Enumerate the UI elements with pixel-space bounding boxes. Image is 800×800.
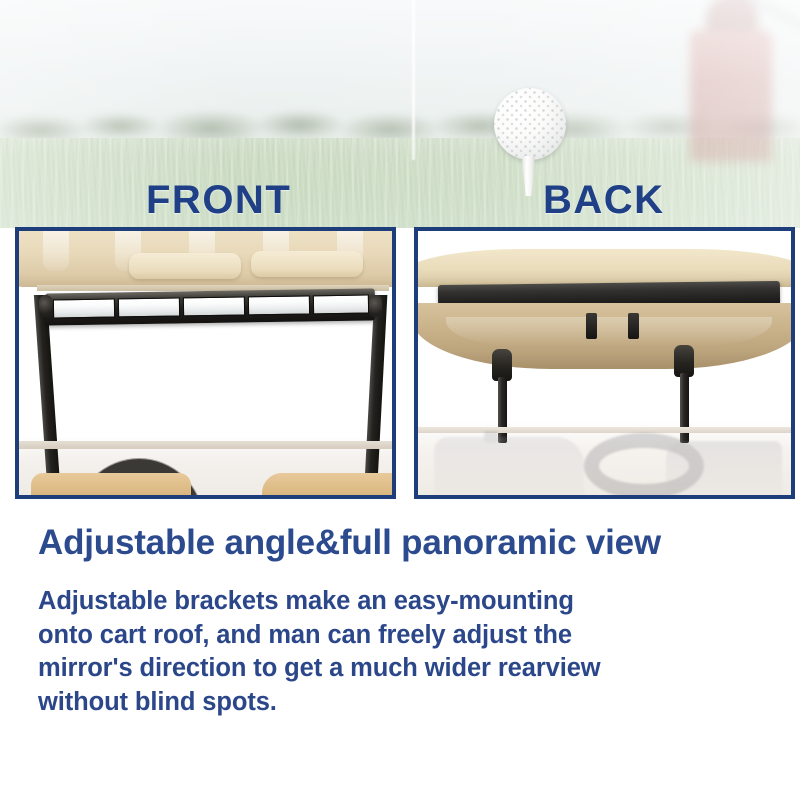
panel-label-front: FRONT [146,180,291,220]
mirror-segment [183,296,245,316]
product-banner: FRONT BACK [0,0,800,800]
mirror-segment [53,298,115,318]
reflection-windshield [434,437,584,495]
reflection-steering-wheel [584,433,704,495]
bracket-tab [628,313,639,339]
roof-underside [418,303,791,369]
front-photo-inner [19,231,392,495]
cart-seat-right [262,473,392,495]
panoramic-mirror-housing [45,288,375,325]
body-copy: Adjustable brackets make an easy-mountin… [38,585,678,720]
body-line: Adjustable brackets make an easy-mountin… [38,585,678,619]
cart-reflection [434,431,782,495]
body-line: onto cart roof, and man can freely adjus… [38,619,678,653]
body-line: mirror's direction to get a much wider r… [38,652,678,686]
mirror-segment [313,295,369,315]
mirror-segment [118,297,180,317]
back-photo-inner [418,231,791,495]
golf-ball-icon [494,88,566,160]
mirror-segment [248,295,310,315]
roof-pod [129,253,241,279]
product-photo-front [15,227,396,499]
mirror-pivot-right [369,295,382,317]
product-photo-back [414,227,795,499]
headline: Adjustable angle&full panoramic view [38,524,768,563]
hero-background-photo [0,0,800,228]
photo-white-wash-overlay [0,0,800,228]
body-line: without blind spots. [38,686,678,720]
roof-pod [251,251,363,277]
roof-rib [43,231,69,271]
dashboard-edge [19,441,392,449]
cart-seat-left [31,473,191,495]
bracket-tab [586,313,597,339]
panel-label-back: BACK [543,180,665,220]
golf-tee-icon [522,156,535,196]
mirror-pivot-left [39,295,52,317]
